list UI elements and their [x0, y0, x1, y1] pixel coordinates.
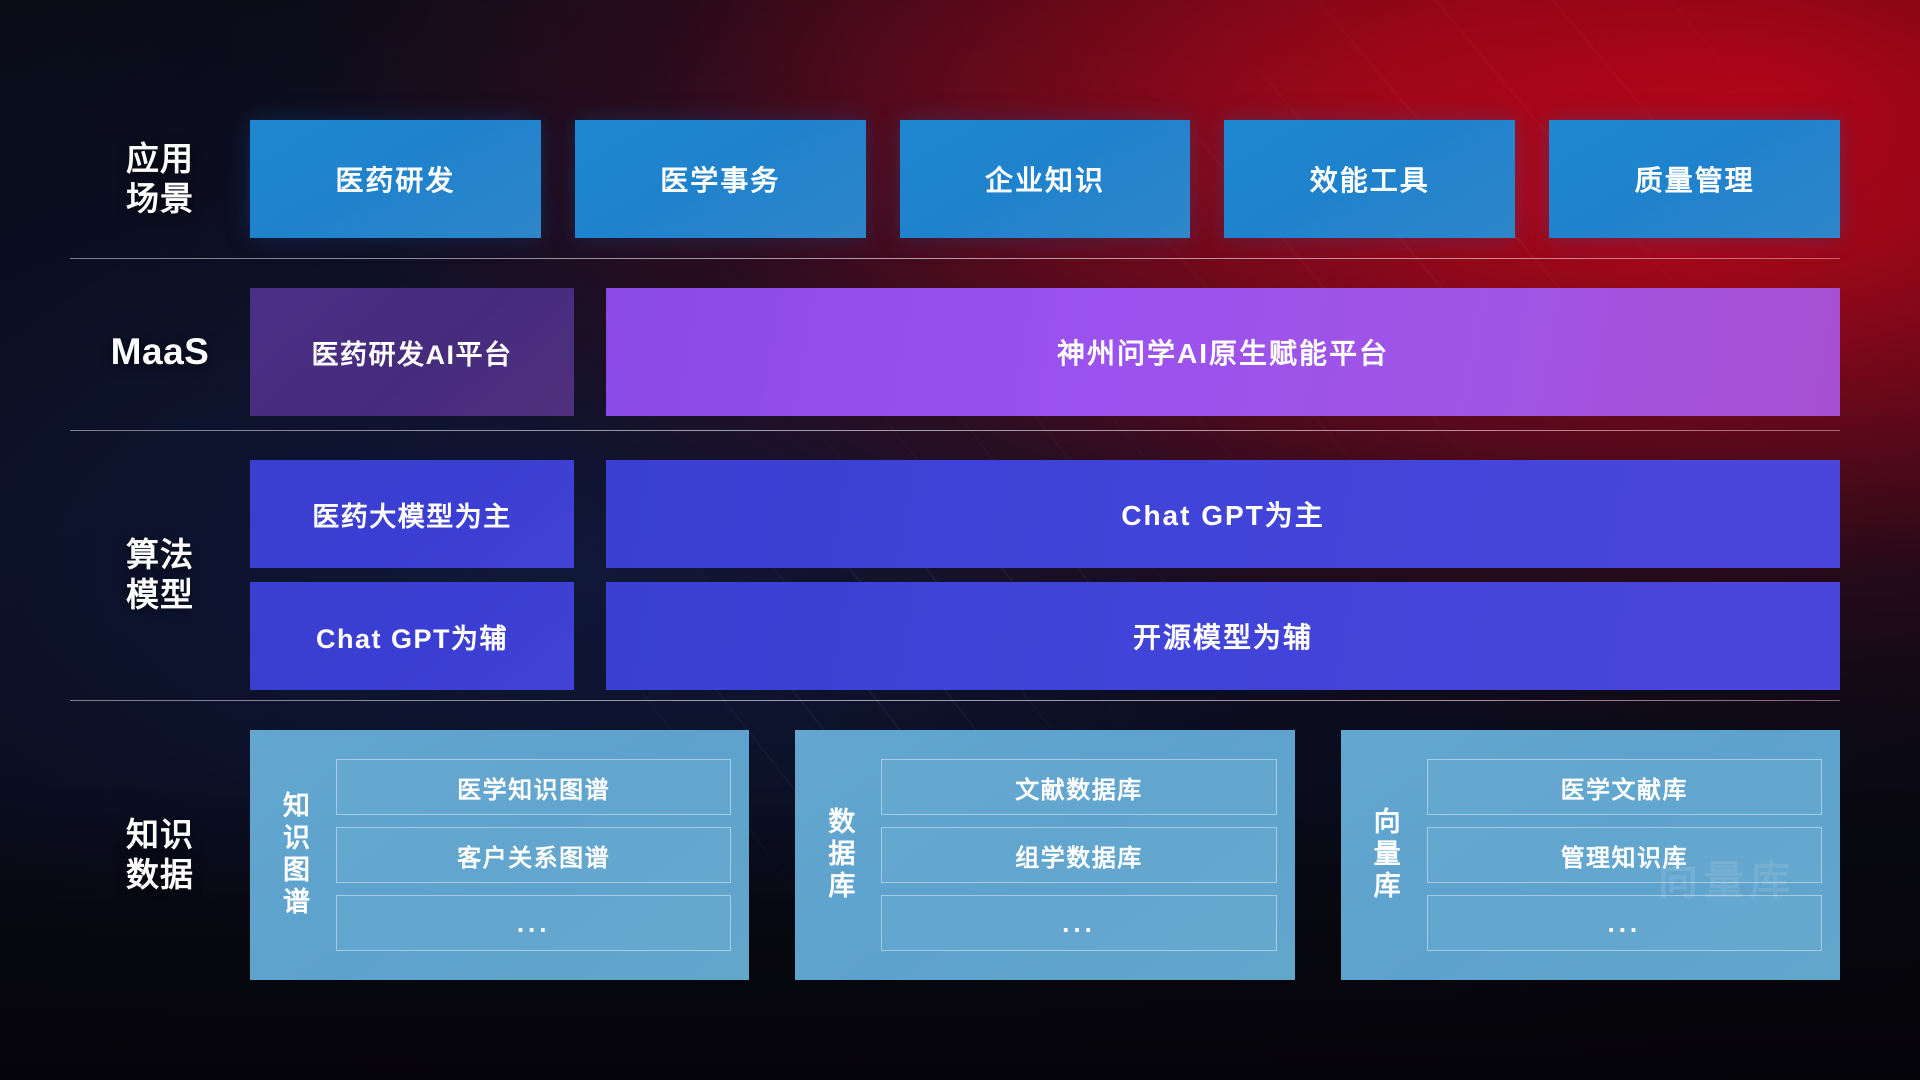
knowledge-items-vector-store: 医学文献库 管理知识库 ... [1427, 759, 1822, 951]
divider-algo-knowledge [70, 700, 1840, 701]
algorithm-model-line-primary: 医药大模型为主 Chat GPT为主 [250, 460, 1840, 568]
knowledge-item-management-knowledge-store[interactable]: 管理知识库 [1427, 827, 1822, 883]
knowledge-items-database: 文献数据库 组学数据库 ... [881, 759, 1276, 951]
row-label-knowledge-data: 知识 数据 [70, 815, 250, 896]
knowledge-item-medical-literature-store[interactable]: 医学文献库 [1427, 759, 1822, 815]
divider-maas-algo [70, 430, 1840, 431]
row-label-application-scenarios: 应用 场景 [70, 139, 250, 220]
row-maas: MaaS 医药研发AI平台 神州问学AI原生赋能平台 [70, 288, 1840, 416]
algorithm-model-cards: 医药大模型为主 Chat GPT为主 Chat GPT为辅 开源模型为辅 [250, 460, 1840, 690]
algo-card-chatgpt-primary[interactable]: Chat GPT为主 [606, 460, 1840, 568]
app-card-efficiency-tools[interactable]: 效能工具 [1224, 120, 1515, 238]
knowledge-group-knowledge-graph[interactable]: 知 识 图 谱 医学知识图谱 客户关系图谱 ... [250, 730, 749, 980]
row-application-scenarios: 应用 场景 医药研发 医学事务 企业知识 效能工具 质量管理 [70, 120, 1840, 238]
knowledge-item-medical-knowledge-graph[interactable]: 医学知识图谱 [336, 759, 731, 815]
row-label-maas: MaaS [70, 329, 250, 374]
algo-card-chatgpt-secondary[interactable]: Chat GPT为辅 [250, 582, 574, 690]
knowledge-items-knowledge-graph: 医学知识图谱 客户关系图谱 ... [336, 759, 731, 951]
row-knowledge-data: 知识 数据 知 识 图 谱 医学知识图谱 客户关系图谱 ... 数 据 库 文献… [70, 730, 1840, 980]
algo-card-pharma-llm-primary[interactable]: 医药大模型为主 [250, 460, 574, 568]
knowledge-item-more-vector-store[interactable]: ... [1427, 895, 1822, 951]
knowledge-item-omics-database[interactable]: 组学数据库 [881, 827, 1276, 883]
knowledge-groups: 知 识 图 谱 医学知识图谱 客户关系图谱 ... 数 据 库 文献数据库 组学… [250, 730, 1840, 980]
row-label-algorithm-models: 算法 模型 [70, 535, 250, 616]
knowledge-group-database[interactable]: 数 据 库 文献数据库 组学数据库 ... [795, 730, 1294, 980]
app-card-medical-affairs[interactable]: 医学事务 [575, 120, 866, 238]
knowledge-group-title-knowledge-graph: 知 识 图 谱 [268, 791, 326, 918]
layer-stack: 应用 场景 医药研发 医学事务 企业知识 效能工具 质量管理 MaaS 医药研发… [0, 0, 1920, 1080]
knowledge-group-vector-store[interactable]: 向 量 库 医学文献库 管理知识库 ... 向量库 [1341, 730, 1840, 980]
knowledge-item-customer-relation-graph[interactable]: 客户关系图谱 [336, 827, 731, 883]
algo-card-opensource-secondary[interactable]: 开源模型为辅 [606, 582, 1840, 690]
app-card-quality-management[interactable]: 质量管理 [1549, 120, 1840, 238]
row-algorithm-models: 算法 模型 医药大模型为主 Chat GPT为主 Chat GPT为辅 开源模型… [70, 460, 1840, 690]
maas-card-pharma-ai-platform[interactable]: 医药研发AI平台 [250, 288, 574, 416]
app-card-medicine-rd[interactable]: 医药研发 [250, 120, 541, 238]
algorithm-model-line-secondary: Chat GPT为辅 开源模型为辅 [250, 582, 1840, 690]
app-card-enterprise-knowledge[interactable]: 企业知识 [900, 120, 1191, 238]
architecture-diagram: 应用 场景 医药研发 医学事务 企业知识 效能工具 质量管理 MaaS 医药研发… [0, 0, 1920, 1080]
knowledge-group-title-vector-store: 向 量 库 [1359, 807, 1417, 903]
knowledge-group-title-database: 数 据 库 [813, 807, 871, 903]
knowledge-item-more-knowledge-graph[interactable]: ... [336, 895, 731, 951]
maas-card-shenzhou-wenxue-platform[interactable]: 神州问学AI原生赋能平台 [606, 288, 1840, 416]
divider-apps-maas [70, 258, 1840, 259]
application-scenario-cards: 医药研发 医学事务 企业知识 效能工具 质量管理 [250, 120, 1840, 238]
maas-platforms: 医药研发AI平台 神州问学AI原生赋能平台 [250, 288, 1840, 416]
knowledge-item-literature-database[interactable]: 文献数据库 [881, 759, 1276, 815]
knowledge-item-more-database[interactable]: ... [881, 895, 1276, 951]
